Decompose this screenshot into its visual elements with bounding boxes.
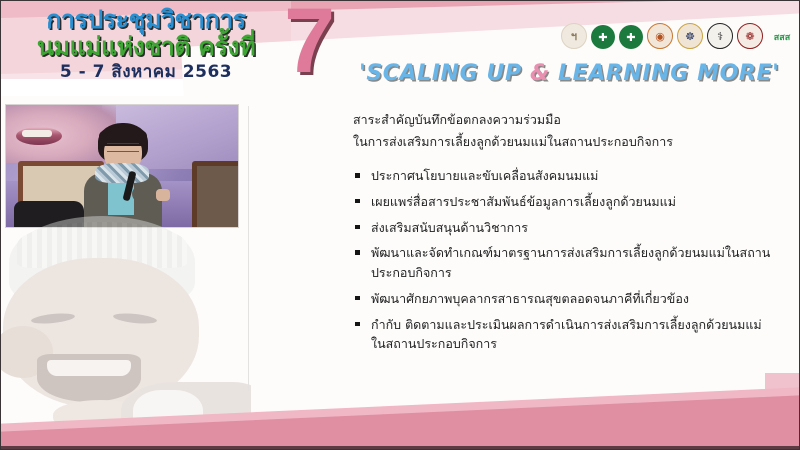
presentation-slide: การประชุมวิชาการ นมแม่แห่งชาติ ครั้งที่ … [0,0,800,450]
health-department-logo: ✚ [619,25,643,49]
medical-association-logo: ❁ [737,23,763,49]
tagline-prefix: 'SCALING UP [359,61,530,86]
list-item: ประกาศนโยบายและขับเคลื่อนสังคมนมแม่ [353,166,773,186]
conference-logo: การประชุมวิชาการ นมแม่แห่งชาติ ครั้งที่ … [15,7,277,81]
nursing-council-logo: ⚕ [707,23,733,49]
intro-line-1: สาระสำคัญบันทึกข้อตกลงความร่วมมือ [353,109,773,131]
tagline-suffix: LEARNING MORE' [550,61,780,86]
edition-number: 7 [284,1,335,87]
conference-title-line2: นมแม่แห่งชาติ ครั้งที่ [15,34,277,59]
list-item: เผยแพร่สื่อสารประชาสัมพันธ์ข้อมูลการเลี้… [353,192,773,212]
sponsor-logo-row: ฯ ✚ ✚ ◉ ☸ ⚕ ❁ สสส [561,23,797,49]
speaker-glasses [107,143,139,152]
ministry-of-public-health-logo: ✚ [591,25,615,49]
list-item: กำกับ ติดตามและประเมินผลการดำเนินการส่งเ… [353,315,773,355]
list-item: พัฒนาศักยภาพบุคลากรสาธารณสุขตลอดจนภาคีที… [353,289,773,309]
university-emblem-logo: ☸ [677,23,703,49]
speaker-presentation-video[interactable] [5,104,239,228]
thaihealth-sss-logo: สสส [767,25,797,49]
tagline-ampersand: & [530,61,550,86]
intro-paragraph: สาระสำคัญบันทึกข้อตกลงความร่วมมือ ในการส… [353,109,773,152]
speaker-figure [82,123,164,228]
conference-title-line1: การประชุมวิชาการ [15,7,277,32]
speaker-scarf [95,163,149,183]
intro-line-2: ในการส่งเสริมการเลี้ยงลูกด้วยนมแม่ในสถาน… [353,131,773,153]
smiling-baby-background-image [1,214,251,429]
slide-content: สาระสำคัญบันทึกข้อตกลงความร่วมมือ ในการส… [353,109,773,360]
content-divider [248,106,249,391]
baby-teeth [47,360,131,376]
speaker-hand [156,189,170,201]
list-item: พัฒนาและจัดทำเกณฑ์มาตรฐานการส่งเสริมการเ… [353,243,773,283]
projected-teeth [22,130,52,137]
royal-seal-logo: ฯ [561,23,587,49]
slide-header-banner: การประชุมวิชาการ นมแม่แห่งชาติ ครั้งที่ … [1,1,800,96]
conference-dates: 5 - 7 สิงหาคม 2563 [15,64,277,81]
conference-tagline: 'SCALING UP & LEARNING MORE' [359,61,779,86]
list-item: ส่งเสริมสนับสนุนด้านวิชาการ [353,218,773,238]
footer-edge-line [1,446,800,449]
bullet-list: ประกาศนโยบายและขับเคลื่อนสังคมนมแม่ เผยแ… [353,166,773,354]
thai-breastfeeding-foundation-logo: ◉ [647,23,673,49]
